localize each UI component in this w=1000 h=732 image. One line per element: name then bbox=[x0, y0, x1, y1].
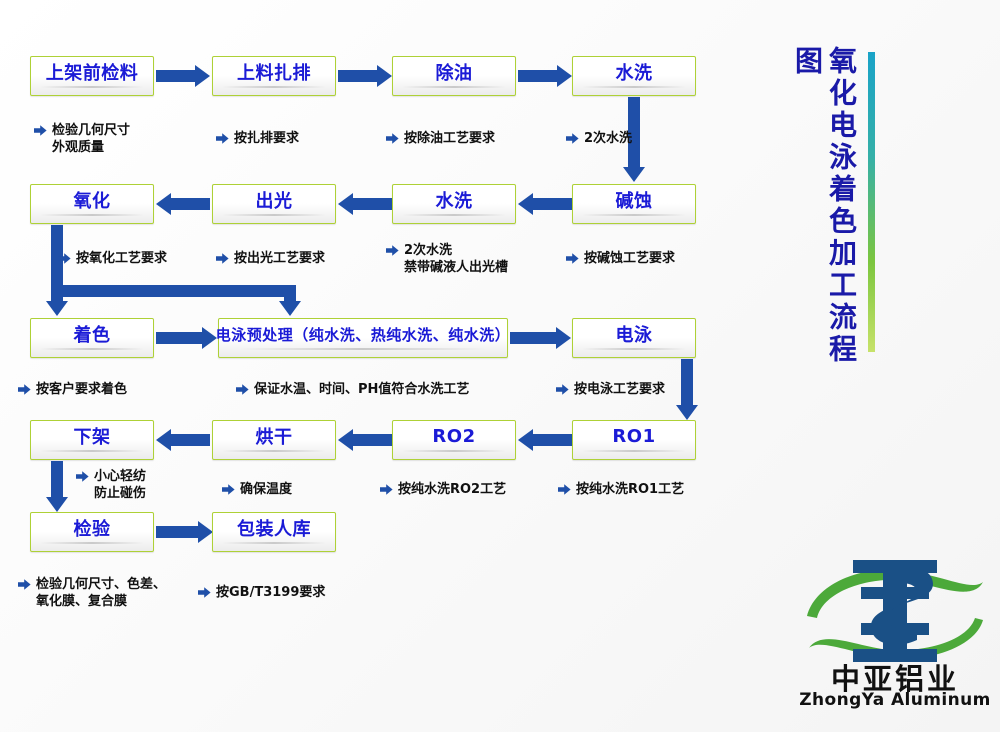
process-box-b14[interactable]: 烘干 bbox=[212, 420, 336, 460]
note-text: 检验几何尺寸 外观质量 bbox=[52, 122, 130, 156]
note-n5: 按氧化工艺要求 bbox=[58, 250, 167, 267]
process-box-label: 上料扎排 bbox=[237, 59, 311, 85]
process-box-b15[interactable]: 下架 bbox=[30, 420, 154, 460]
note-n2: 按扎排要求 bbox=[216, 130, 299, 147]
process-box-b9[interactable]: 着色 bbox=[30, 318, 154, 358]
process-box-label: 除油 bbox=[436, 59, 473, 85]
note-n13: 确保温度 bbox=[222, 481, 292, 498]
arrow-b7-to-b8 bbox=[156, 193, 210, 215]
bullet-arrow-icon bbox=[58, 252, 71, 265]
note-text: 确保温度 bbox=[240, 481, 292, 498]
arrow-b6-to-b7 bbox=[338, 193, 392, 215]
note-n7: 2次水洗 禁带碱液人出光槽 bbox=[386, 242, 508, 276]
process-box-b1[interactable]: 上架前检料 bbox=[30, 56, 154, 96]
arrow-b11-to-b12 bbox=[676, 359, 698, 421]
note-n17: 按GB/T3199要求 bbox=[198, 584, 325, 601]
arrow-b2-to-b3 bbox=[338, 65, 392, 87]
bullet-arrow-icon bbox=[216, 252, 229, 265]
note-text: 按扎排要求 bbox=[234, 130, 299, 147]
note-n6: 按出光工艺要求 bbox=[216, 250, 325, 267]
note-text: 检验几何尺寸、色差、 氧化膜、复合膜 bbox=[36, 576, 166, 610]
arrow-b12-to-b13 bbox=[518, 429, 572, 451]
company-logo: 中亚铝业 ZhongYa Aluminum bbox=[795, 548, 995, 720]
process-box-label: 包装人库 bbox=[237, 515, 311, 541]
process-box-b6[interactable]: 水洗 bbox=[392, 184, 516, 224]
arrow-b8-to-b10 bbox=[51, 285, 301, 319]
bullet-arrow-icon bbox=[566, 132, 579, 145]
process-box-b5[interactable]: 碱蚀 bbox=[572, 184, 696, 224]
bullet-arrow-icon bbox=[386, 132, 399, 145]
process-box-b13[interactable]: RO2 bbox=[392, 420, 516, 460]
note-n16: 检验几何尺寸、色差、 氧化膜、复合膜 bbox=[18, 576, 166, 610]
bullet-arrow-icon bbox=[556, 383, 569, 396]
chart-title-block: 氧化电泳着色加工流程图 bbox=[790, 46, 875, 366]
note-n11: 按电泳工艺要求 bbox=[556, 381, 665, 398]
bullet-arrow-icon bbox=[566, 252, 579, 265]
arrow-b1-to-b2 bbox=[156, 65, 210, 87]
arrow-b5-to-b6 bbox=[518, 193, 572, 215]
note-text: 保证水温、时间、PH值符合水洗工艺 bbox=[254, 381, 469, 398]
note-text: 按客户要求着色 bbox=[36, 381, 127, 398]
arrow-b9-to-b10 bbox=[156, 327, 218, 349]
note-text: 小心轻纺 防止碰伤 bbox=[94, 468, 146, 502]
process-box-b3[interactable]: 除油 bbox=[392, 56, 516, 96]
arrow-b15-to-b16 bbox=[46, 461, 68, 513]
flowchart-canvas: 上架前检料上料扎排除油水洗碱蚀水洗出光氧化着色电泳预处理（纯水洗、热纯水洗、纯水… bbox=[0, 0, 1000, 732]
bullet-arrow-icon bbox=[558, 483, 571, 496]
note-n10: 保证水温、时间、PH值符合水洗工艺 bbox=[236, 381, 469, 398]
process-box-b12[interactable]: RO1 bbox=[572, 420, 696, 460]
note-n4: 2次水洗 bbox=[566, 130, 632, 147]
process-box-b10[interactable]: 电泳预处理（纯水洗、热纯水洗、纯水洗） bbox=[218, 318, 508, 358]
bullet-arrow-icon bbox=[386, 244, 399, 257]
process-box-label: 氧化 bbox=[74, 187, 111, 213]
note-n15: 按纯水洗RO1工艺 bbox=[558, 481, 684, 498]
note-n1: 检验几何尺寸 外观质量 bbox=[34, 122, 130, 156]
bullet-arrow-icon bbox=[236, 383, 249, 396]
process-box-b16[interactable]: 检验 bbox=[30, 512, 154, 552]
note-text: 按除油工艺要求 bbox=[404, 130, 495, 147]
process-box-label: RO1 bbox=[612, 426, 655, 447]
title-accent-bar bbox=[868, 52, 875, 352]
note-text: 按碱蚀工艺要求 bbox=[584, 250, 675, 267]
process-box-label: 电泳 bbox=[616, 321, 653, 347]
process-box-label: 电泳预处理（纯水洗、热纯水洗、纯水洗） bbox=[216, 324, 511, 345]
note-text: 按GB/T3199要求 bbox=[216, 584, 325, 601]
bullet-arrow-icon bbox=[18, 578, 31, 591]
process-box-label: 上架前检料 bbox=[46, 59, 139, 85]
note-text: 按纯水洗RO2工艺 bbox=[398, 481, 506, 498]
process-box-b8[interactable]: 氧化 bbox=[30, 184, 154, 224]
process-box-b2[interactable]: 上料扎排 bbox=[212, 56, 336, 96]
note-n14: 按纯水洗RO2工艺 bbox=[380, 481, 506, 498]
process-box-label: 水洗 bbox=[616, 59, 653, 85]
bullet-arrow-icon bbox=[76, 470, 89, 483]
bullet-arrow-icon bbox=[198, 586, 211, 599]
process-box-b17[interactable]: 包装人库 bbox=[212, 512, 336, 552]
note-text: 按纯水洗RO1工艺 bbox=[576, 481, 684, 498]
note-text: 2次水洗 bbox=[584, 130, 632, 147]
bullet-arrow-icon bbox=[216, 132, 229, 145]
process-box-label: 碱蚀 bbox=[616, 187, 653, 213]
process-box-b7[interactable]: 出光 bbox=[212, 184, 336, 224]
arrow-b14-to-b15 bbox=[156, 429, 210, 451]
note-text: 按氧化工艺要求 bbox=[76, 250, 167, 267]
logo-mark-icon bbox=[795, 548, 995, 666]
process-box-label: 出光 bbox=[256, 187, 293, 213]
bullet-arrow-icon bbox=[222, 483, 235, 496]
note-n3: 按除油工艺要求 bbox=[386, 130, 495, 147]
process-box-label: 下架 bbox=[74, 423, 111, 449]
logo-name-en: ZhongYa Aluminum bbox=[795, 690, 995, 710]
arrow-b13-to-b14 bbox=[338, 429, 392, 451]
arrow-b10-to-b11 bbox=[510, 327, 572, 349]
note-n8: 按碱蚀工艺要求 bbox=[566, 250, 675, 267]
arrow-b16-to-b17 bbox=[156, 521, 214, 543]
process-box-label: 烘干 bbox=[256, 423, 293, 449]
arrow-b3-to-b4 bbox=[518, 65, 572, 87]
note-n9: 按客户要求着色 bbox=[18, 381, 127, 398]
process-box-label: 着色 bbox=[74, 321, 111, 347]
bullet-arrow-icon bbox=[34, 124, 47, 137]
page-title: 氧化电泳着色加工流程图 bbox=[790, 46, 858, 366]
process-box-b4[interactable]: 水洗 bbox=[572, 56, 696, 96]
process-box-label: 水洗 bbox=[436, 187, 473, 213]
note-text: 2次水洗 禁带碱液人出光槽 bbox=[404, 242, 508, 276]
note-text: 按电泳工艺要求 bbox=[574, 381, 665, 398]
bullet-arrow-icon bbox=[380, 483, 393, 496]
process-box-b11[interactable]: 电泳 bbox=[572, 318, 696, 358]
process-box-label: RO2 bbox=[432, 426, 475, 447]
bullet-arrow-icon bbox=[18, 383, 31, 396]
process-box-label: 检验 bbox=[74, 515, 111, 541]
note-n12: 小心轻纺 防止碰伤 bbox=[76, 468, 146, 502]
note-text: 按出光工艺要求 bbox=[234, 250, 325, 267]
